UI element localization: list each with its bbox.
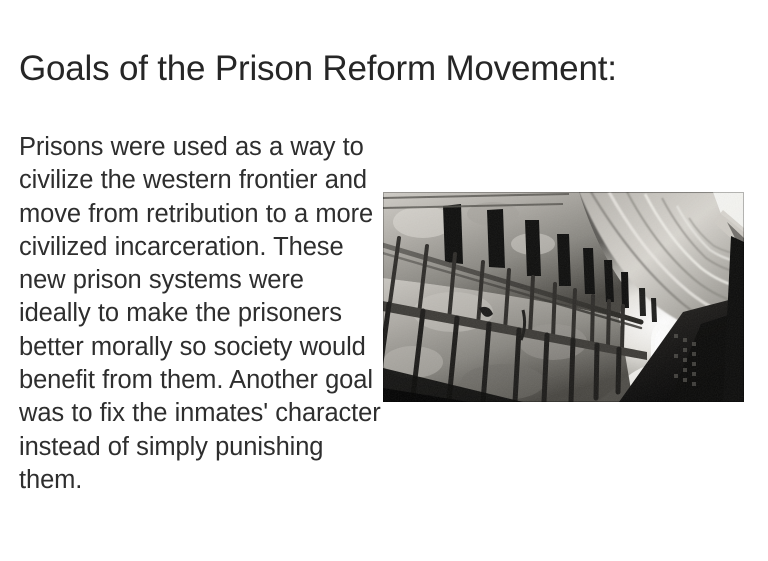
presentation-slide: Goals of the Prison Reform Movement: Pri… <box>0 0 768 561</box>
body-paragraph: Prisons were used as a way to civilize t… <box>19 131 381 497</box>
page-title: Goals of the Prison Reform Movement: <box>19 47 749 91</box>
prison-cell-block-photo <box>383 192 744 402</box>
